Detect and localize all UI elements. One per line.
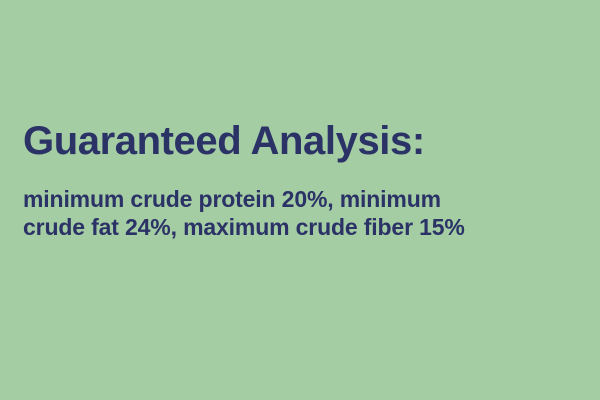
analysis-line-2: crude fat 24%, maximum crude fiber 15% — [23, 213, 588, 241]
analysis-line-1: minimum crude protein 20%, minimum — [23, 185, 588, 213]
page-title: Guaranteed Analysis: — [23, 118, 588, 164]
guaranteed-analysis-values: minimum crude protein 20%, minimum crude… — [23, 185, 588, 241]
analysis-text-block: Guaranteed Analysis: minimum crude prote… — [23, 118, 588, 241]
guaranteed-analysis-card: Guaranteed Analysis: minimum crude prote… — [0, 0, 600, 400]
